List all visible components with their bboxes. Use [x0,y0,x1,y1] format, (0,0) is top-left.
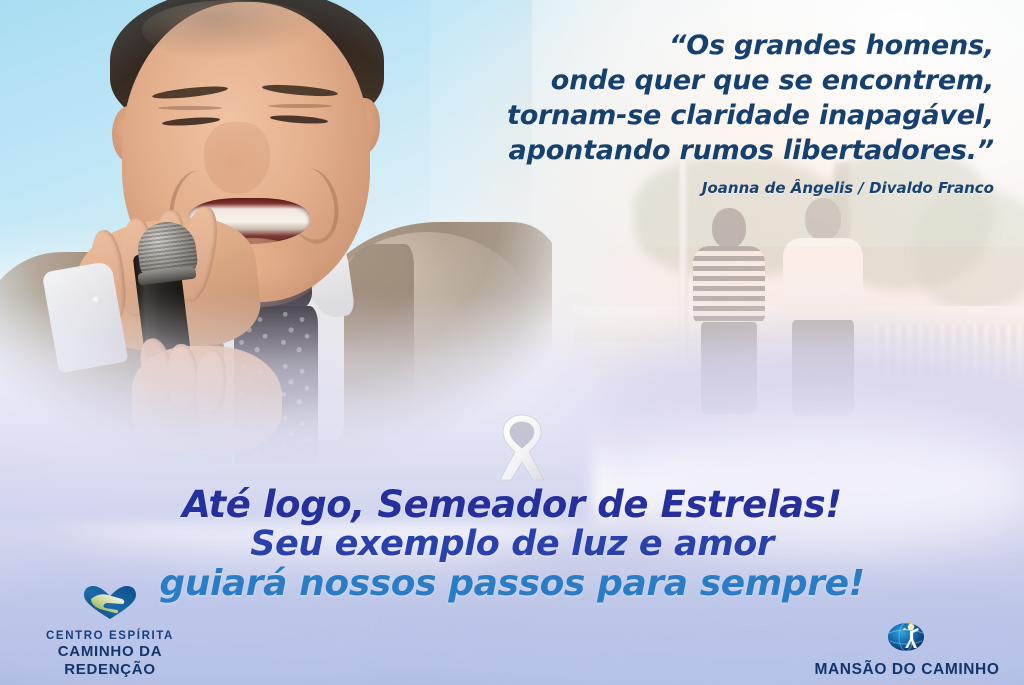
headline-line-1: Até logo, Semeador de Estrelas! [0,484,1024,525]
logo-left-line-1: CENTRO ESPÍRITA [10,629,210,643]
eye-right [270,114,328,125]
figure-head [712,208,746,248]
quote-line-2: onde quer que se encontrem, [394,63,994,98]
foliage-shape [914,190,1024,310]
quote-line-3: tornam-se claridade inapagável, [394,98,994,133]
eyebrow-right [262,83,338,99]
logo-left-line-2: CAMINHO DA REDENÇÃO [10,643,210,679]
mansao-do-caminho-globe-icon [802,615,1012,658]
logo-mansao-do-caminho[interactable]: MANSÃO DO CAMINHO [802,615,1012,679]
eyebrow-left [152,84,229,101]
logo-centro-espirita[interactable]: CENTRO ESPÍRITA CAMINHO DA REDENÇÃO [10,585,210,679]
eye-crease-right [268,104,332,108]
quote-line-1: “Os grandes homens, [394,28,994,63]
quote-attribution: Joanna de Ângelis / Divaldo Franco [394,179,994,197]
figure-head [805,198,841,240]
logo-right-line-1: MANSÃO DO CAMINHO [802,661,1012,679]
tribute-poster: “Os grandes homens, onde quer que se enc… [0,0,1024,685]
eye-crease-left [158,106,222,110]
heart-hands-icon [10,585,210,626]
headline-line-2: Seu exemplo de luz e amor [0,525,1024,564]
figure-torso [693,246,765,324]
hair-highlight [142,0,322,60]
white-mourning-ribbon-icon [486,409,558,491]
quote-block: “Os grandes homens, onde quer que se enc… [394,28,994,197]
quote-line-4: apontando rumos libertadores.” [394,133,994,168]
figure-torso [783,238,863,322]
eye-left [162,116,220,127]
